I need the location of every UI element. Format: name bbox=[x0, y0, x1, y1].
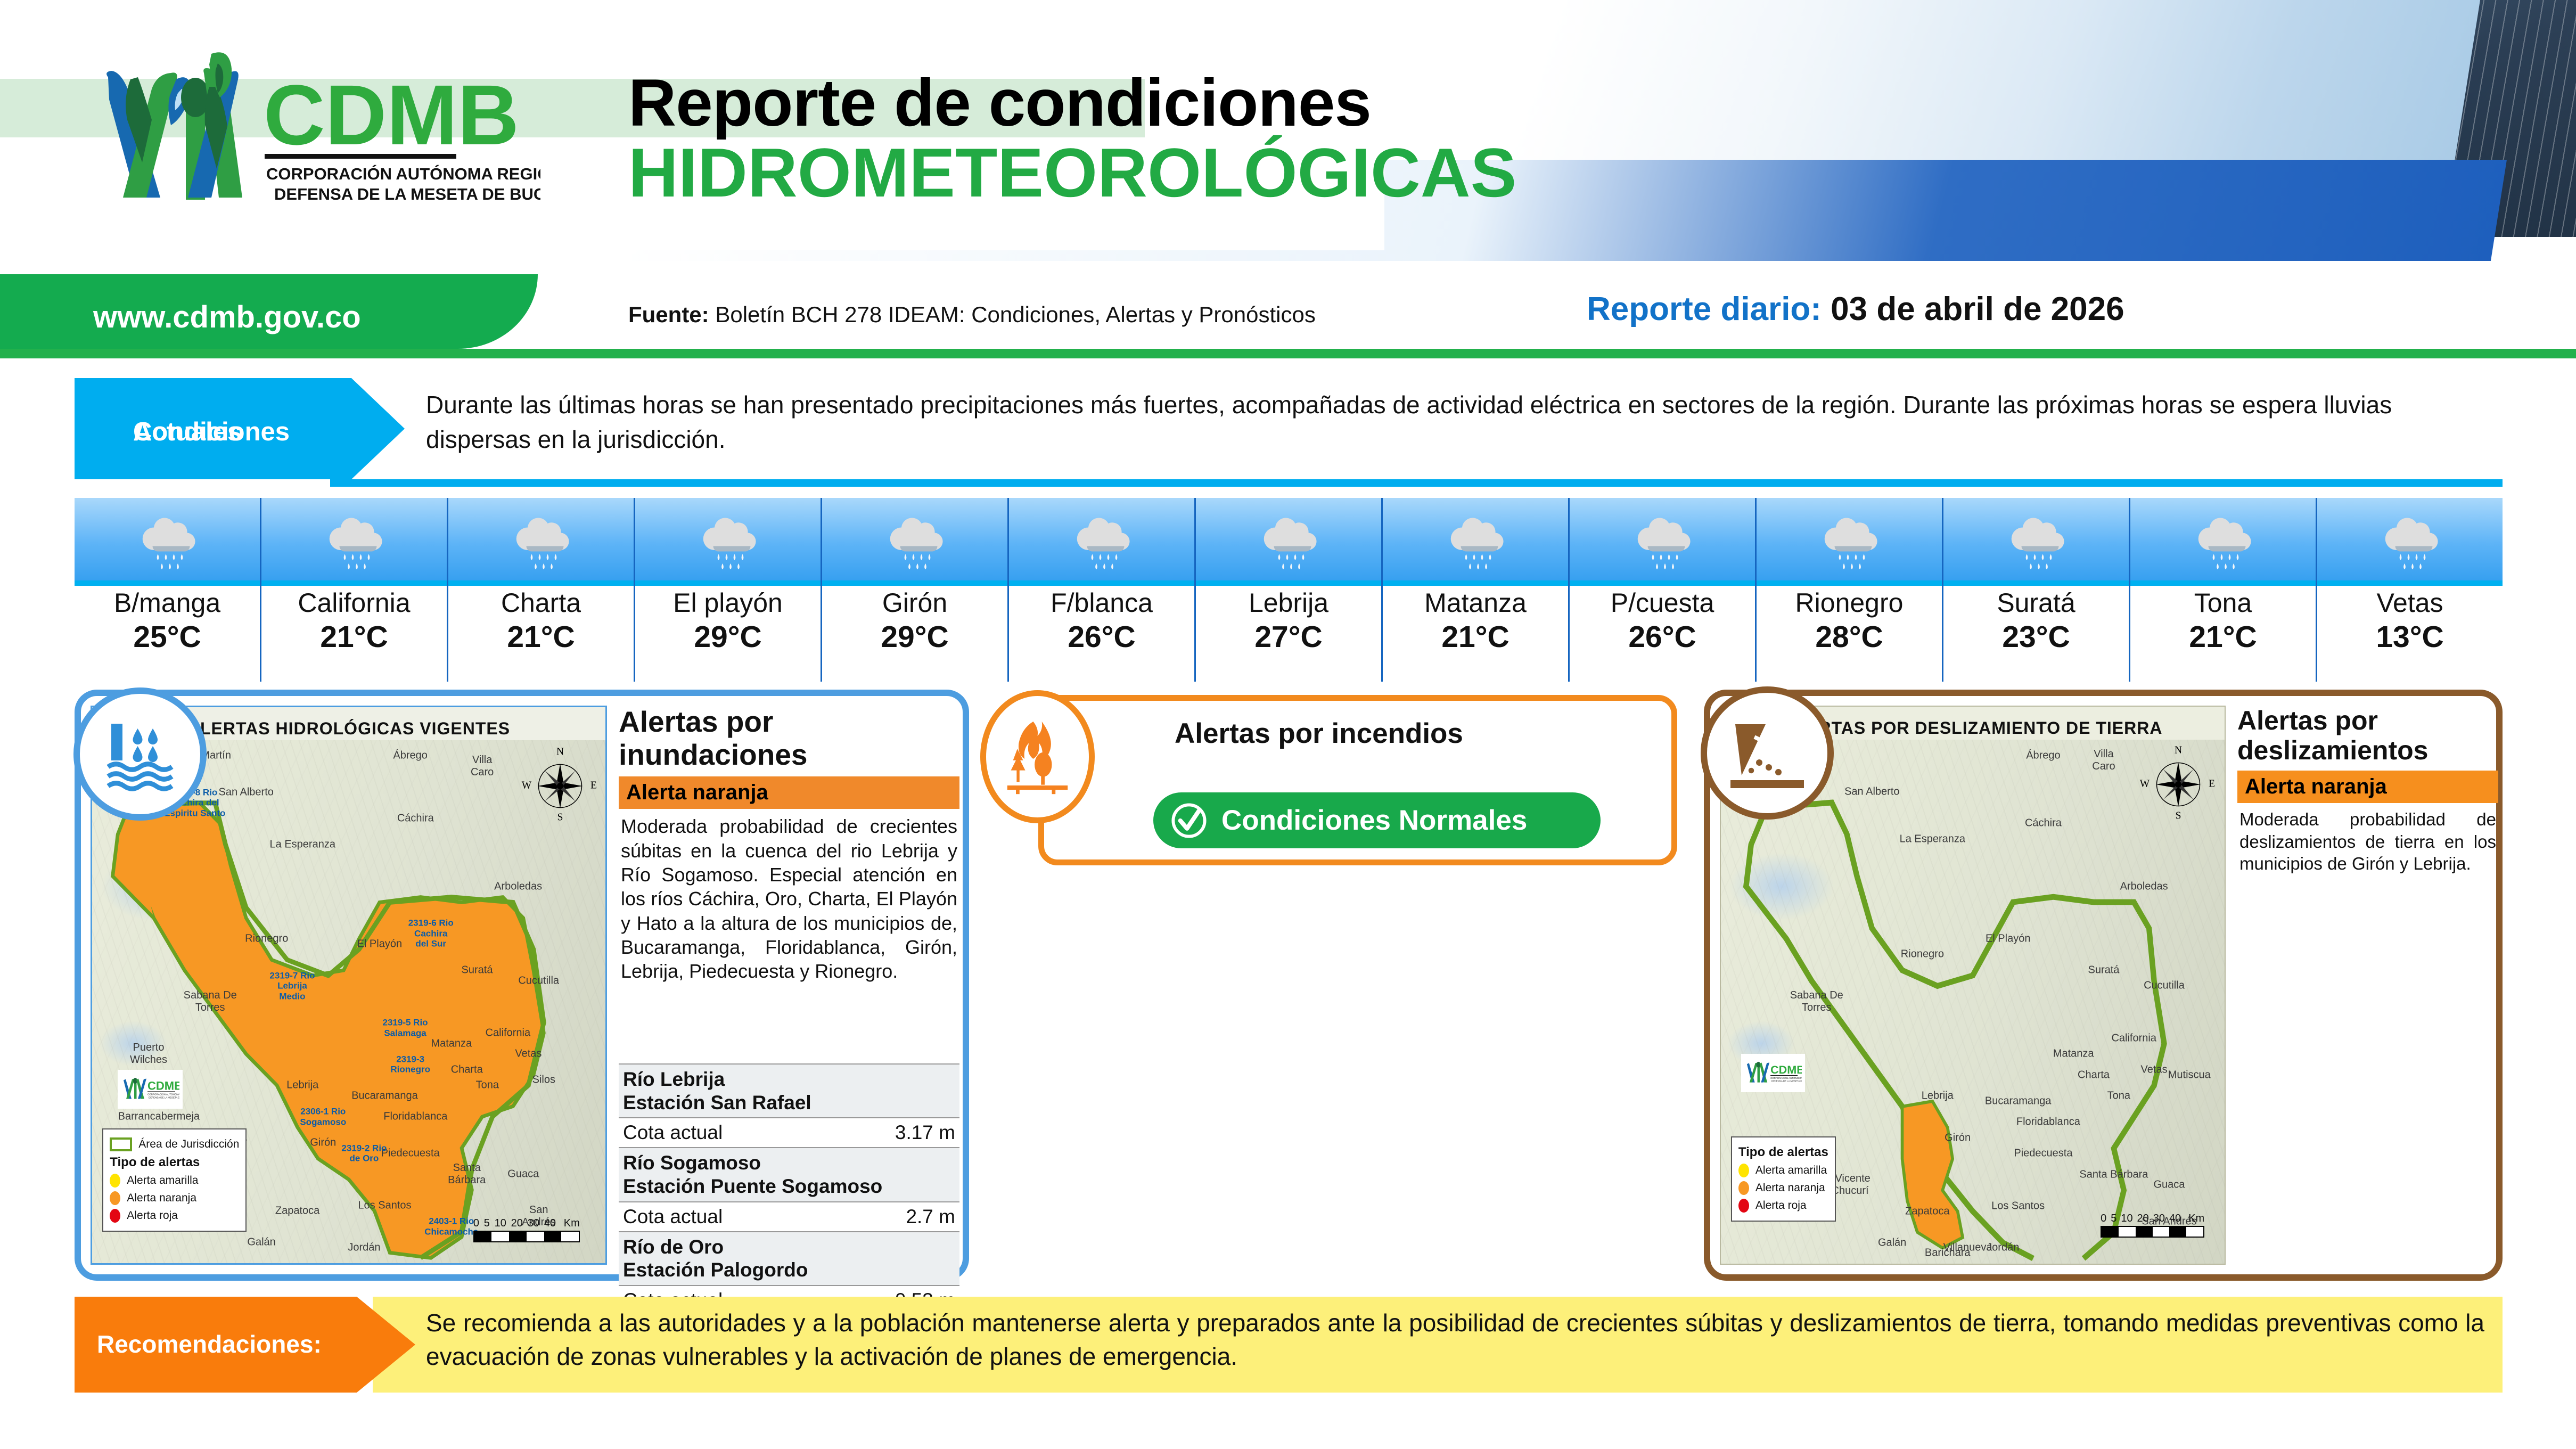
municipality-temperature: 29°C bbox=[822, 619, 1007, 654]
place-label: Sabana De Torres bbox=[1790, 989, 1843, 1014]
flood-alert-body: Moderada probabilidad de crecientes súbi… bbox=[619, 809, 959, 984]
station-name: Estación Palogordo bbox=[623, 1258, 955, 1282]
metric-label: Cota actual bbox=[623, 1121, 723, 1144]
scale-tick: 10 bbox=[2121, 1213, 2132, 1225]
municipality-temperature: 21°C bbox=[2130, 619, 2316, 654]
place-label: Cáchira bbox=[2025, 817, 2062, 830]
place-label: Arboledas bbox=[494, 880, 542, 893]
place-label: Cucutilla bbox=[2144, 980, 2185, 992]
rain-cloud-icon bbox=[1442, 507, 1509, 574]
municipality-name: Rionegro bbox=[1757, 587, 1942, 618]
map-cdmb-watermark: CDMB CORPORACIÓN AUTÓNOMA REGIONAL PARA … bbox=[118, 1070, 183, 1109]
website-tab[interactable]: www.cdmb.gov.co bbox=[0, 274, 538, 349]
water-level-icon bbox=[100, 714, 180, 794]
report-date-line: Reporte diario: 03 de abril de 2026 bbox=[1587, 290, 2124, 328]
place-label: Sabana De Torres bbox=[184, 989, 237, 1014]
place-label: Galán bbox=[247, 1236, 275, 1248]
place-label: Matanza bbox=[2053, 1048, 2094, 1060]
basin-code-label: 2319-5 Rio Salamaga bbox=[383, 1018, 428, 1038]
landslide-icon bbox=[1727, 713, 1807, 793]
scale-unit: Km bbox=[564, 1217, 580, 1230]
municipality-temperature: 25°C bbox=[75, 619, 260, 654]
landslide-map-legend: Tipo de alertas Alerta amarillaAlerta na… bbox=[1731, 1136, 1836, 1222]
municipality-temperature: 21°C bbox=[261, 619, 447, 654]
place-label: Ábrego bbox=[2026, 749, 2061, 762]
fire-alert-title: Alertas por incendios bbox=[1175, 718, 1463, 750]
temperature-cell: F/blanca 26°C bbox=[1007, 498, 1194, 682]
svg-text:N: N bbox=[556, 747, 564, 758]
landslide-alert-level: Alerta naranja bbox=[2237, 771, 2498, 803]
legend-jurisdiction-swatch bbox=[110, 1137, 132, 1151]
landslide-map-scalebar: 0510203040Km bbox=[2101, 1213, 2204, 1238]
municipality-name: Tona bbox=[2130, 587, 2316, 618]
place-label: Vetas bbox=[515, 1048, 542, 1060]
place-label: Lebrija bbox=[286, 1079, 318, 1092]
place-label: Tona bbox=[2107, 1090, 2130, 1102]
scale-tick: 40 bbox=[2169, 1213, 2181, 1225]
rain-cloud-icon bbox=[2190, 507, 2257, 574]
cell-underline bbox=[1570, 580, 1755, 586]
place-label: California bbox=[2111, 1032, 2156, 1044]
temperature-cell: Suratá 23°C bbox=[1942, 498, 2129, 682]
municipality-name: Suratá bbox=[1943, 587, 2129, 618]
svg-text:E: E bbox=[590, 780, 597, 791]
place-label: Zapatoca bbox=[1905, 1205, 1949, 1217]
municipality-temperature: 26°C bbox=[1570, 619, 1755, 654]
place-label: Guaca bbox=[2153, 1179, 2185, 1191]
green-divider bbox=[0, 349, 2576, 358]
legend-item: Alerta naranja bbox=[110, 1191, 239, 1205]
place-label: Silos bbox=[532, 1074, 555, 1086]
svg-text:CORPORACIÓN AUTÓNOMA REGIONAL: CORPORACIÓN AUTÓNOMA REGIONAL PARA LA bbox=[1770, 1076, 1802, 1079]
municipality-name: F/blanca bbox=[1009, 587, 1194, 618]
place-label: Santa Bárbara bbox=[2079, 1168, 2148, 1181]
recommendations-tag: Recomendaciones: bbox=[75, 1297, 415, 1393]
scale-tick: 30 bbox=[2153, 1213, 2165, 1225]
source-label: Fuente: bbox=[628, 302, 709, 327]
temperature-cell: Charta 21°C bbox=[447, 498, 634, 682]
svg-text:S: S bbox=[2176, 811, 2181, 822]
cell-underline bbox=[1383, 580, 1568, 586]
place-label: San Alberto bbox=[1844, 786, 1899, 798]
flood-alert-level: Alerta naranja bbox=[619, 776, 959, 809]
svg-text:CDMB: CDMB bbox=[147, 1079, 179, 1092]
fire-badge bbox=[980, 690, 1095, 823]
place-label: Rionegro bbox=[1901, 948, 1944, 961]
report-label: Reporte diario: bbox=[1587, 291, 1822, 328]
municipality-name: Charta bbox=[448, 587, 634, 618]
legend-item: Alerta amarilla bbox=[110, 1174, 239, 1188]
map-cdmb-watermark: CDMB CORPORACIÓN AUTÓNOMA REGIONAL PARA … bbox=[1741, 1054, 1805, 1092]
rain-cloud-icon bbox=[1816, 507, 1883, 574]
municipality-name: Matanza bbox=[1383, 587, 1568, 618]
rain-cloud-icon bbox=[134, 507, 201, 574]
cell-underline bbox=[261, 580, 447, 586]
municipality-temperature: 29°C bbox=[635, 619, 821, 654]
station-header: Río de OroEstación Palogordo bbox=[619, 1232, 959, 1285]
basin-code-label: 2319-2 Rio de Oro bbox=[341, 1143, 387, 1164]
temperature-cell: B/manga 25°C bbox=[75, 498, 260, 682]
compass-rose-icon: N S W E bbox=[520, 744, 600, 824]
scale-tick: 40 bbox=[544, 1217, 556, 1230]
cell-underline bbox=[1943, 580, 2129, 586]
legend-item: Alerta roja bbox=[110, 1209, 239, 1223]
rain-cloud-icon bbox=[321, 507, 388, 574]
legend-label: Alerta amarilla bbox=[127, 1174, 198, 1187]
municipality-name: California bbox=[261, 587, 447, 618]
scale-tick: 0 bbox=[2101, 1213, 2106, 1225]
municipality-name: P/cuesta bbox=[1570, 587, 1755, 618]
cell-underline bbox=[448, 580, 634, 586]
station-header: Río LebrijaEstación San Rafael bbox=[619, 1065, 959, 1117]
rain-cloud-icon bbox=[695, 507, 761, 574]
cell-underline bbox=[75, 580, 260, 586]
current-conditions-tag: Condiciones Actuales bbox=[75, 378, 405, 479]
temperature-cell: P/cuesta 26°C bbox=[1568, 498, 1755, 682]
legend-jurisdiction-label: Área de Jurisdicción bbox=[138, 1138, 239, 1151]
place-label: Villa Caro bbox=[471, 754, 494, 779]
flood-alert-card: ALERTAS HIDROLÓGICAS VIGENTES N S W E bbox=[75, 690, 969, 1281]
municipality-temperature: 27°C bbox=[1196, 619, 1381, 654]
legend-title: Tipo de alertas bbox=[110, 1155, 239, 1170]
place-label: California bbox=[486, 1027, 530, 1039]
rain-cloud-icon bbox=[2003, 507, 2070, 574]
scale-unit: Km bbox=[2188, 1213, 2204, 1225]
flood-alert-text-column: Alertas por inundaciones Alerta naranja … bbox=[619, 706, 959, 984]
hydro-map-scalebar: 0510203040Km bbox=[473, 1217, 580, 1242]
page-header: CDMB CORPORACIÓN AUTÓNOMA REGIONAL PARA … bbox=[0, 0, 2576, 274]
landslide-map-canvas: N S W E San AlbertoÁbregoVilla CaroCáchi… bbox=[1721, 740, 2225, 1264]
temperature-strip: B/manga 25°C California 21°C Charta 21°C… bbox=[75, 498, 2503, 682]
place-label: La Esperanza bbox=[270, 839, 335, 851]
place-label: Piedecuesta bbox=[381, 1147, 440, 1159]
station-name: Estación Puente Sogamoso bbox=[623, 1175, 955, 1198]
legend-label: Alerta roja bbox=[1755, 1199, 1807, 1212]
legend-item: Alerta roja bbox=[1738, 1199, 1828, 1213]
cell-underline bbox=[1196, 580, 1381, 586]
place-label: Charta bbox=[2078, 1069, 2110, 1081]
river-name: Río de Oro bbox=[623, 1235, 955, 1259]
place-label: Galán bbox=[1878, 1237, 1906, 1249]
temperature-cell: California 21°C bbox=[260, 498, 447, 682]
municipality-name: El playón bbox=[635, 587, 821, 618]
fire-status-label: Condiciones Normales bbox=[1221, 804, 1527, 837]
check-circle-icon bbox=[1169, 801, 1209, 840]
scale-tick: 10 bbox=[495, 1217, 506, 1230]
rain-cloud-icon bbox=[882, 507, 948, 574]
cell-underline bbox=[635, 580, 821, 586]
station-header: Río SogamosoEstación Puente Sogamoso bbox=[619, 1148, 959, 1201]
water-level-badge bbox=[73, 687, 207, 821]
cond-tag-line2: Actuales bbox=[133, 416, 242, 448]
landslide-alert-body: Moderada probabilidad de deslizamientos … bbox=[2237, 803, 2498, 875]
municipality-name: B/manga bbox=[75, 587, 260, 618]
municipality-temperature: 21°C bbox=[448, 619, 634, 654]
svg-text:S: S bbox=[557, 812, 563, 823]
scale-tick: 20 bbox=[2137, 1213, 2149, 1225]
svg-text:CDMB: CDMB bbox=[1770, 1063, 1802, 1076]
place-label: El Playón bbox=[357, 938, 403, 950]
municipality-temperature: 13°C bbox=[2317, 619, 2503, 654]
municipality-temperature: 28°C bbox=[1757, 619, 1942, 654]
rain-cloud-icon bbox=[2377, 507, 2443, 574]
metric-value: 2.7 m bbox=[906, 1206, 955, 1228]
place-label: Mutiscua bbox=[2168, 1069, 2211, 1081]
metric-label: Cota actual bbox=[623, 1206, 723, 1228]
title-line-1: Reporte de condiciones bbox=[628, 69, 1516, 137]
place-label: Guaca bbox=[507, 1168, 539, 1181]
municipality-temperature: 23°C bbox=[1943, 619, 2129, 654]
place-label: Santa Bárbara bbox=[448, 1162, 486, 1186]
svg-text:W: W bbox=[2140, 779, 2150, 790]
scale-tick: 5 bbox=[2111, 1213, 2116, 1225]
basin-code-label: 2403-1 Rio Chicamocha bbox=[424, 1216, 478, 1237]
municipality-temperature: 21°C bbox=[1383, 619, 1568, 654]
scale-tick: 20 bbox=[511, 1217, 523, 1230]
temperature-cell: Lebrija 27°C bbox=[1194, 498, 1381, 682]
temperature-cell: El playón 29°C bbox=[634, 498, 821, 682]
legend-label: Alerta naranja bbox=[1755, 1182, 1825, 1194]
cdmb-logo: CDMB CORPORACIÓN AUTÓNOMA REGIONAL PARA … bbox=[72, 40, 540, 216]
place-label: Villa Caro bbox=[2092, 748, 2115, 773]
municipality-temperature: 26°C bbox=[1009, 619, 1194, 654]
scale-tick: 5 bbox=[484, 1217, 490, 1230]
svg-text:N: N bbox=[2175, 745, 2182, 756]
temperature-cell: Girón 29°C bbox=[821, 498, 1007, 682]
place-label: Los Santos bbox=[358, 1199, 411, 1211]
flood-alert-title: Alertas por inundaciones bbox=[619, 706, 959, 771]
municipality-name: Girón bbox=[822, 587, 1007, 618]
recommendations-section: Se recomienda a las autoridades y a la p… bbox=[75, 1297, 2503, 1393]
place-label: Villanueva bbox=[1943, 1242, 1992, 1254]
cell-underline bbox=[2317, 580, 2503, 586]
place-label: Charta bbox=[451, 1063, 483, 1076]
legend-swatch bbox=[110, 1209, 120, 1223]
place-label: La Esperanza bbox=[1900, 833, 1965, 845]
landslide-alert-card: ALERTAS POR DESLIZAMIENTO DE TIERRA N S … bbox=[1704, 690, 2503, 1281]
temperature-cell: Rionegro 28°C bbox=[1755, 498, 1942, 682]
place-label: Los Santos bbox=[1991, 1200, 2045, 1212]
temperature-cell: Matanza 21°C bbox=[1381, 498, 1568, 682]
river-name: Río Sogamoso bbox=[623, 1151, 955, 1175]
place-label: Matanza bbox=[431, 1037, 472, 1050]
alert-panels: ALERTAS HIDROLÓGICAS VIGENTES N S W E bbox=[75, 690, 2503, 1283]
rain-cloud-icon bbox=[1256, 507, 1322, 574]
legend-swatch bbox=[110, 1191, 120, 1205]
source-text: Boletín BCH 278 IDEAM: Condiciones, Aler… bbox=[715, 302, 1316, 327]
legend-swatch bbox=[1738, 1164, 1749, 1177]
legend-swatch bbox=[110, 1174, 120, 1188]
basin-code-label: 2319-3 Rionegro bbox=[390, 1054, 430, 1075]
logo-subtitle-2: DEFENSA DE LA MESETA DE BUCARAMANGA bbox=[274, 185, 540, 203]
svg-text:DEFENSA DE LA MESETA DE BUCARA: DEFENSA DE LA MESETA DE BUCARAMANGA bbox=[149, 1096, 179, 1099]
place-label: Suratá bbox=[462, 964, 493, 977]
place-label: Rionegro bbox=[245, 933, 288, 945]
scale-tick: 30 bbox=[528, 1217, 539, 1230]
fire-status-pill: Condiciones Normales bbox=[1153, 792, 1601, 848]
recommendations-body: Se recomienda a las autoridades y a la p… bbox=[373, 1297, 2503, 1393]
recommendations-text: Se recomienda a las autoridades y a la p… bbox=[373, 1297, 2503, 1374]
legend-item: Alerta amarilla bbox=[1738, 1164, 1828, 1177]
place-label: Girón bbox=[1945, 1132, 1971, 1144]
legend-title: Tipo de alertas bbox=[1738, 1145, 1828, 1160]
basin-code-label: 2306-1 Rio Sogamoso bbox=[300, 1106, 346, 1127]
scale-tick: 0 bbox=[473, 1217, 479, 1230]
station-name: Estación San Rafael bbox=[623, 1091, 955, 1115]
landslide-badge bbox=[1701, 686, 1834, 820]
place-label: Bucaramanga bbox=[351, 1090, 418, 1102]
landslide-text-column: Alertas por deslizamientos Alerta naranj… bbox=[2237, 706, 2498, 875]
rain-cloud-icon bbox=[1069, 507, 1135, 574]
place-label: Girón bbox=[310, 1137, 336, 1149]
place-label: Cucutilla bbox=[518, 975, 559, 987]
place-label: El Playón bbox=[1986, 932, 2031, 945]
municipality-name: Vetas bbox=[2317, 587, 2503, 618]
current-conditions-text: Durante las últimas horas se han present… bbox=[426, 388, 2503, 457]
municipality-name: Lebrija bbox=[1196, 587, 1381, 618]
cell-underline bbox=[822, 580, 1007, 586]
compass-rose-icon: N S W E bbox=[2138, 743, 2218, 823]
rain-cloud-icon bbox=[1629, 507, 1696, 574]
place-label: Bucaramanga bbox=[1985, 1095, 2052, 1107]
recommendations-label: Recomendaciones: bbox=[97, 1330, 322, 1358]
legend-swatch bbox=[1738, 1199, 1749, 1213]
current-conditions-section: Condiciones Actuales Durante las últimas… bbox=[75, 378, 2503, 482]
legend-item: Alerta naranja bbox=[1738, 1181, 1828, 1195]
place-label: Puerto Wilches bbox=[130, 1042, 167, 1066]
report-date: 03 de abril de 2026 bbox=[1831, 291, 2124, 328]
page-title: Reporte de condiciones HIDROMETEOROLÓGIC… bbox=[628, 69, 1516, 208]
svg-text:CORPORACIÓN AUTÓNOMA REGIONAL: CORPORACIÓN AUTÓNOMA REGIONAL PARA LA bbox=[147, 1092, 179, 1095]
svg-text:DEFENSA DE LA MESETA DE BUCARA: DEFENSA DE LA MESETA DE BUCARAMANGA bbox=[1771, 1080, 1802, 1083]
temperature-cell: Vetas 13°C bbox=[2316, 498, 2503, 682]
landslide-alert-title: Alertas por deslizamientos bbox=[2237, 706, 2498, 765]
place-label: Floridablanca bbox=[383, 1111, 447, 1123]
logo-subtitle-1: CORPORACIÓN AUTÓNOMA REGIONAL PARA LA bbox=[266, 164, 540, 183]
station-value-row: Cota actual2.7 m bbox=[619, 1201, 959, 1232]
place-label: Piedecuesta bbox=[2014, 1148, 2072, 1160]
basin-code-label: 2319-6 Rio Cachira del Sur bbox=[408, 918, 454, 949]
legend-label: Alerta naranja bbox=[127, 1192, 196, 1205]
temperature-cell: Tona 21°C bbox=[2129, 498, 2316, 682]
legend-label: Alerta roja bbox=[127, 1209, 178, 1222]
basin-code-label: 2319-7 Rio Lebrija Medio bbox=[269, 970, 315, 1002]
rain-cloud-icon bbox=[508, 507, 575, 574]
website-url[interactable]: www.cdmb.gov.co bbox=[93, 299, 361, 335]
svg-text:CDMB: CDMB bbox=[264, 67, 519, 162]
river-station-table: Río LebrijaEstación San RafaelCota actua… bbox=[619, 1063, 959, 1316]
cell-underline bbox=[2130, 580, 2316, 586]
info-bar: www.cdmb.gov.co Fuente: Boletín BCH 278 … bbox=[0, 274, 2576, 359]
legend-label: Alerta amarilla bbox=[1755, 1164, 1827, 1177]
cond-divider bbox=[330, 479, 2503, 487]
place-label: Vetas bbox=[2141, 1063, 2168, 1076]
hydro-map-legend: Área de Jurisdicción Tipo de alertas Ale… bbox=[102, 1128, 247, 1232]
place-label: Floridablanca bbox=[2016, 1116, 2080, 1128]
title-line-2: HIDROMETEOROLÓGICAS bbox=[628, 137, 1516, 208]
place-label: Tona bbox=[476, 1079, 499, 1092]
svg-text:E: E bbox=[2209, 779, 2215, 790]
legend-swatch bbox=[1738, 1181, 1749, 1195]
station-value-row: Cota actual3.17 m bbox=[619, 1117, 959, 1148]
place-label: San Alberto bbox=[218, 787, 273, 799]
place-label: Arboledas bbox=[2120, 880, 2168, 893]
place-label: Suratá bbox=[2088, 964, 2119, 976]
river-name: Río Lebrija bbox=[623, 1068, 955, 1091]
place-label: Ábrego bbox=[393, 750, 428, 762]
metric-value: 3.17 m bbox=[895, 1121, 955, 1144]
place-label: Lebrija bbox=[1922, 1090, 1954, 1102]
fire-alert-card: Alertas por incendios Condiciones Normal… bbox=[1038, 695, 1677, 865]
place-label: Cáchira bbox=[397, 813, 434, 825]
hydro-map-canvas: N S W E San MartínÁbregoVilla CaroSan Al… bbox=[92, 740, 605, 1263]
source-line: Fuente: Boletín BCH 278 IDEAM: Condicion… bbox=[628, 302, 1316, 328]
place-label: Jordán bbox=[348, 1241, 380, 1254]
fire-forest-icon bbox=[1002, 717, 1073, 797]
cell-underline bbox=[1009, 580, 1194, 586]
place-label: Barrancabermeja bbox=[118, 1111, 200, 1123]
svg-text:W: W bbox=[522, 780, 532, 791]
place-label: Zapatoca bbox=[275, 1205, 319, 1217]
cell-underline bbox=[1757, 580, 1942, 586]
